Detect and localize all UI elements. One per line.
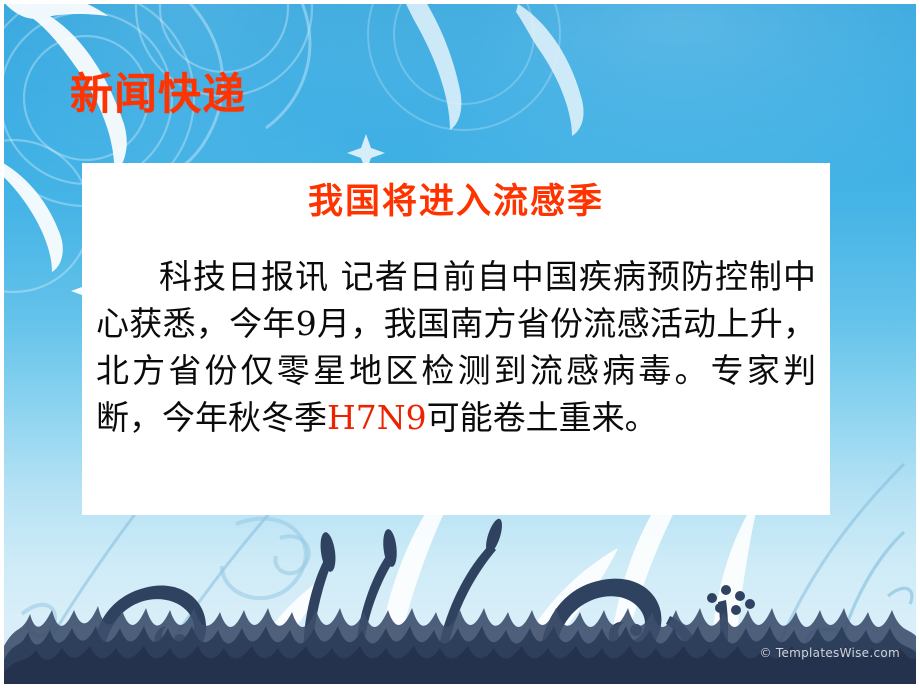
article-headline: 我国将进入流感季 [82,163,830,225]
template-watermark: © TemplatesWise.com [759,646,900,660]
content-card: 我国将进入流感季 科技日报讯 记者日前自中国疾病预防控制中心获悉，今年9月，我国… [82,163,830,515]
slide-artboard: 新闻快递 我国将进入流感季 科技日报讯 记者日前自中国疾病预防控制中心获悉，今年… [4,4,916,684]
presentation-slide: 新闻快递 我国将进入流感季 科技日报讯 记者日前自中国疾病预防控制中心获悉，今年… [0,0,920,690]
slide-title: 新闻快递 [70,68,246,122]
article-body-part-2: 可能卷土重来。 [427,398,658,437]
article-body: 科技日报讯 记者日前自中国疾病预防控制中心获悉，今年9月，我国南方省份流感活动上… [82,225,830,441]
article-body-highlight: H7N9 [327,398,427,437]
